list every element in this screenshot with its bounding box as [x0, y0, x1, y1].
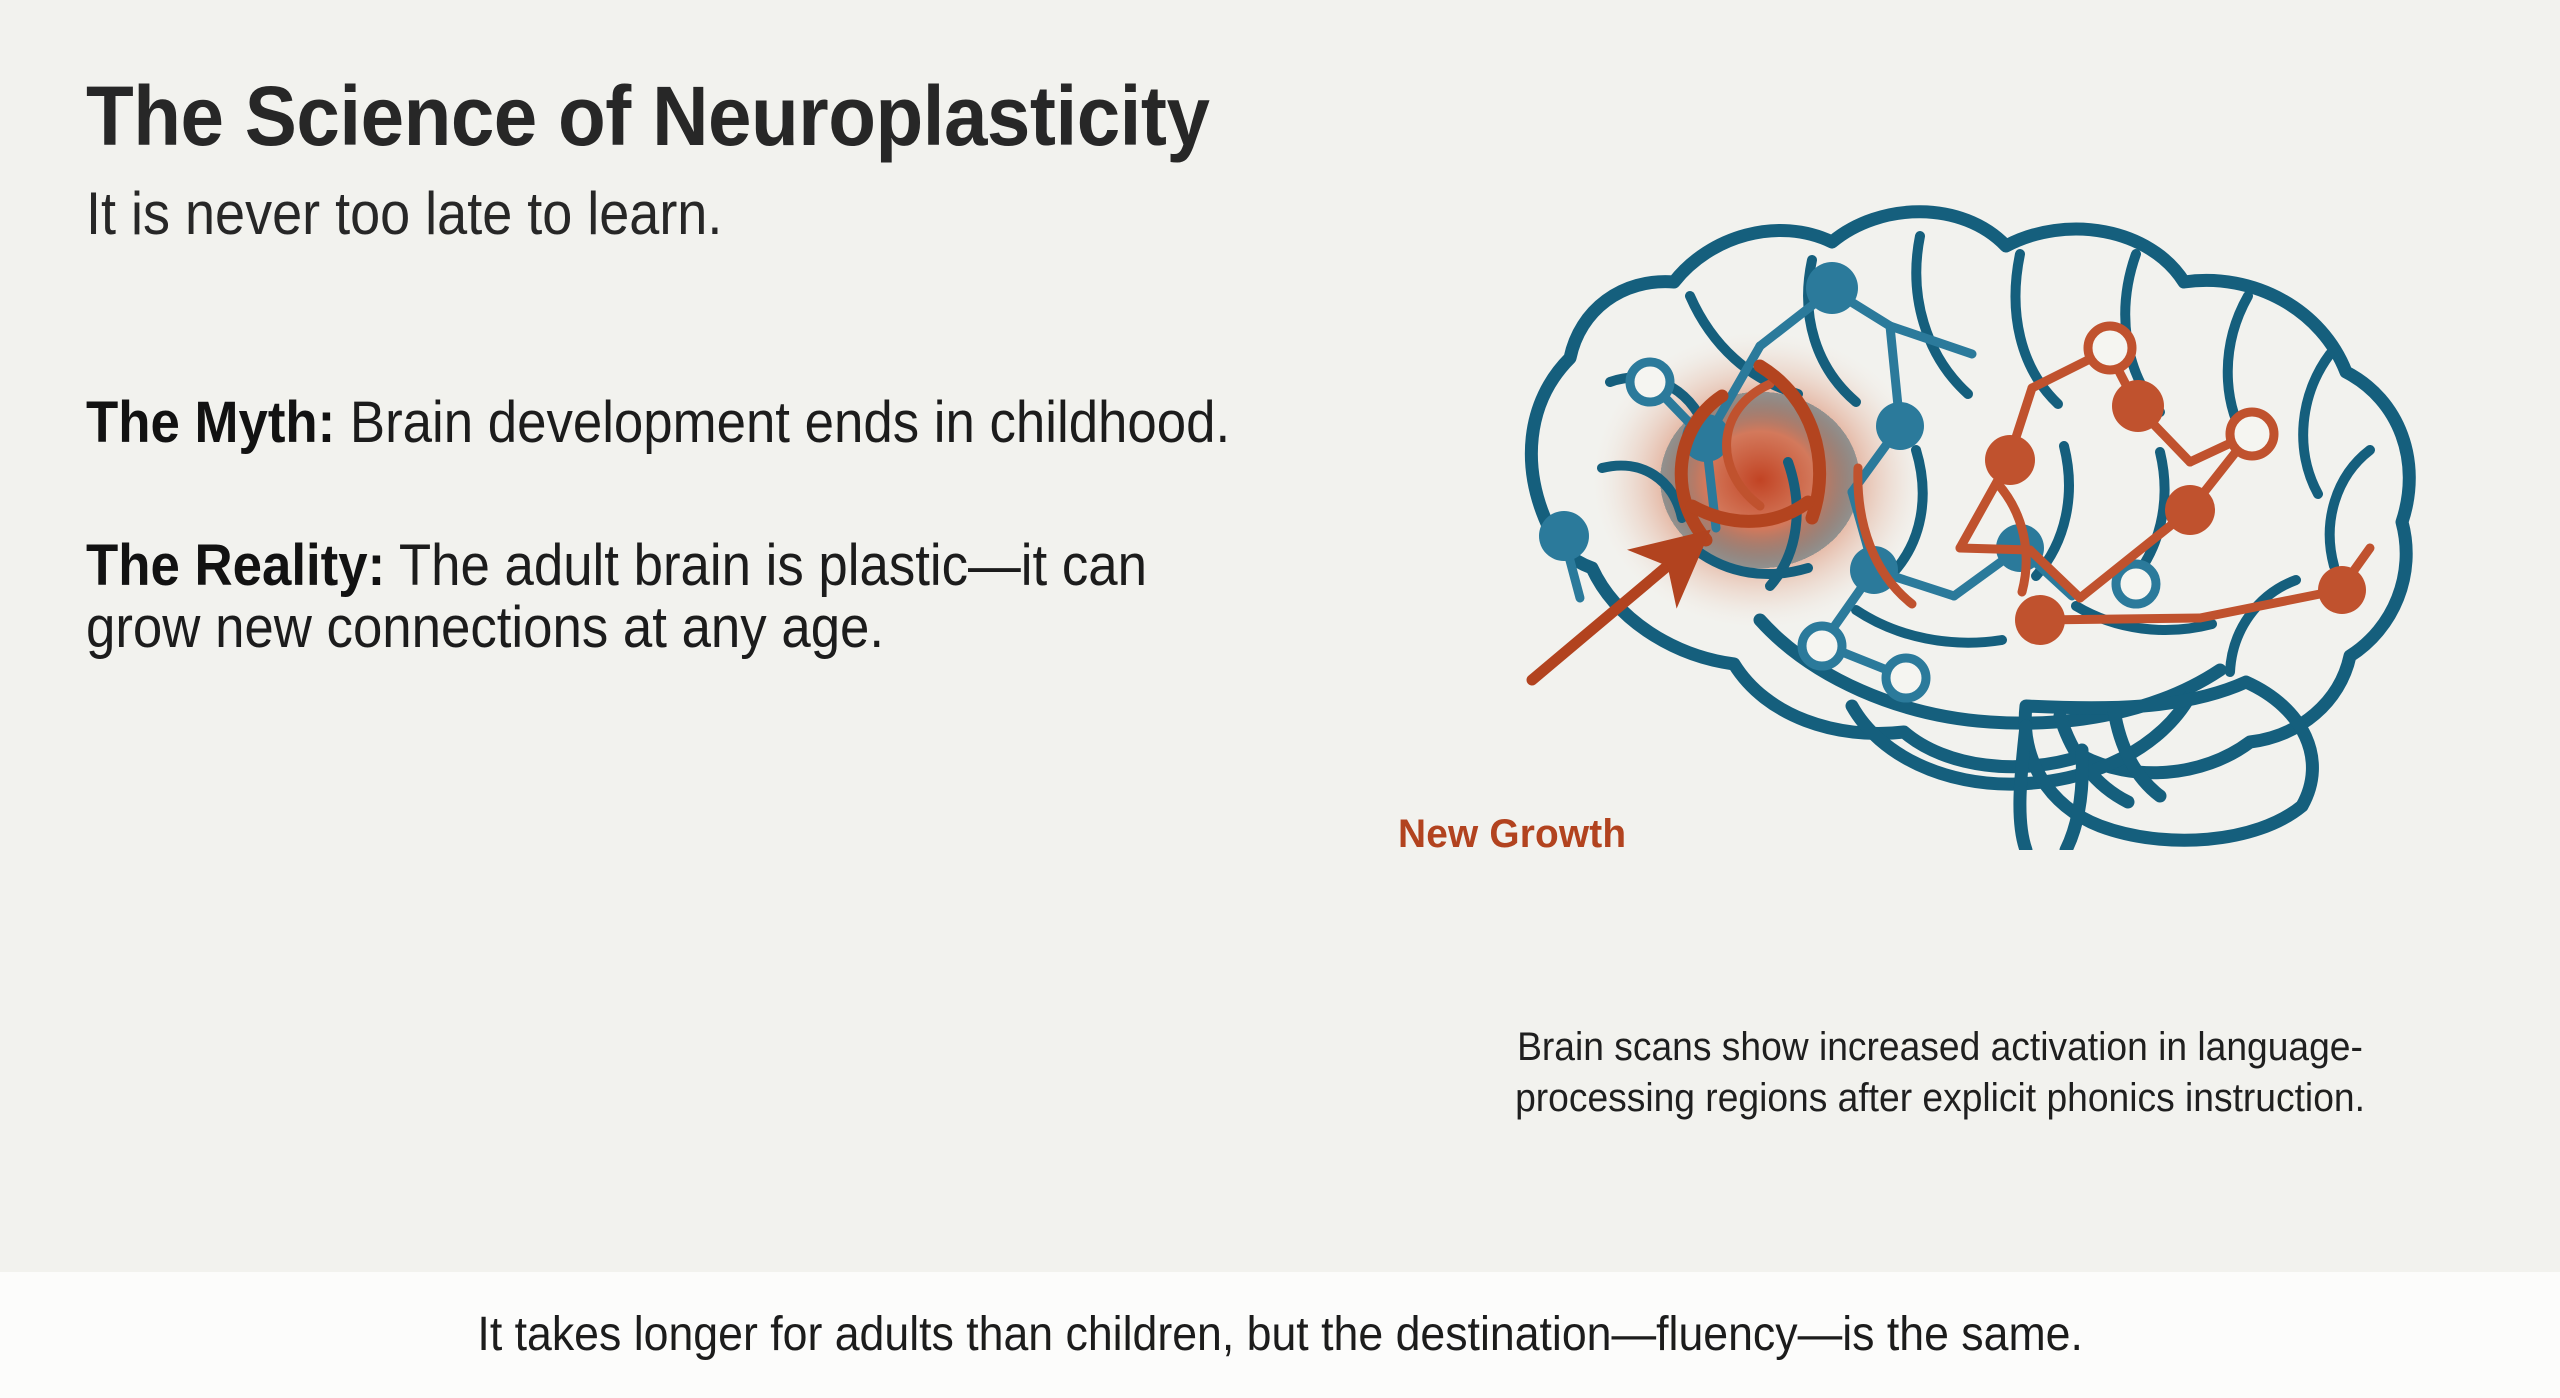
slide-main-area: The Science of Neuroplasticity It is nev… [0, 0, 2560, 1272]
new-growth-arrow [1532, 542, 1696, 680]
myth-text: Brain development ends in childhood. [335, 390, 1230, 455]
footer-takeaway-text: It takes longer for adults than children… [477, 1311, 2082, 1359]
red-nodes-hollow [2088, 326, 2274, 456]
page-title: The Science of Neuroplasticity [86, 74, 1202, 158]
brain-diagram [1460, 150, 2460, 850]
brain-illustration-svg [1460, 150, 2460, 850]
reality-statement: The Reality: The adult brain is plastic—… [86, 535, 1242, 658]
page-subtitle: It is never too late to learn. [86, 184, 1166, 244]
text-column: The Science of Neuroplasticity It is nev… [86, 74, 1286, 716]
new-growth-label: New Growth [1398, 812, 1626, 857]
figure-column [1430, 150, 2490, 850]
myth-statement: The Myth: Brain development ends in chil… [86, 392, 1242, 453]
slide-canvas: The Science of Neuroplasticity It is nev… [0, 0, 2560, 1398]
figure-caption: Brain scans show increased activation in… [1466, 1022, 2415, 1124]
reality-lead-in: The Reality: [86, 533, 385, 598]
footer-banner: It takes longer for adults than children… [0, 1272, 2560, 1398]
myth-lead-in: The Myth: [86, 390, 335, 455]
